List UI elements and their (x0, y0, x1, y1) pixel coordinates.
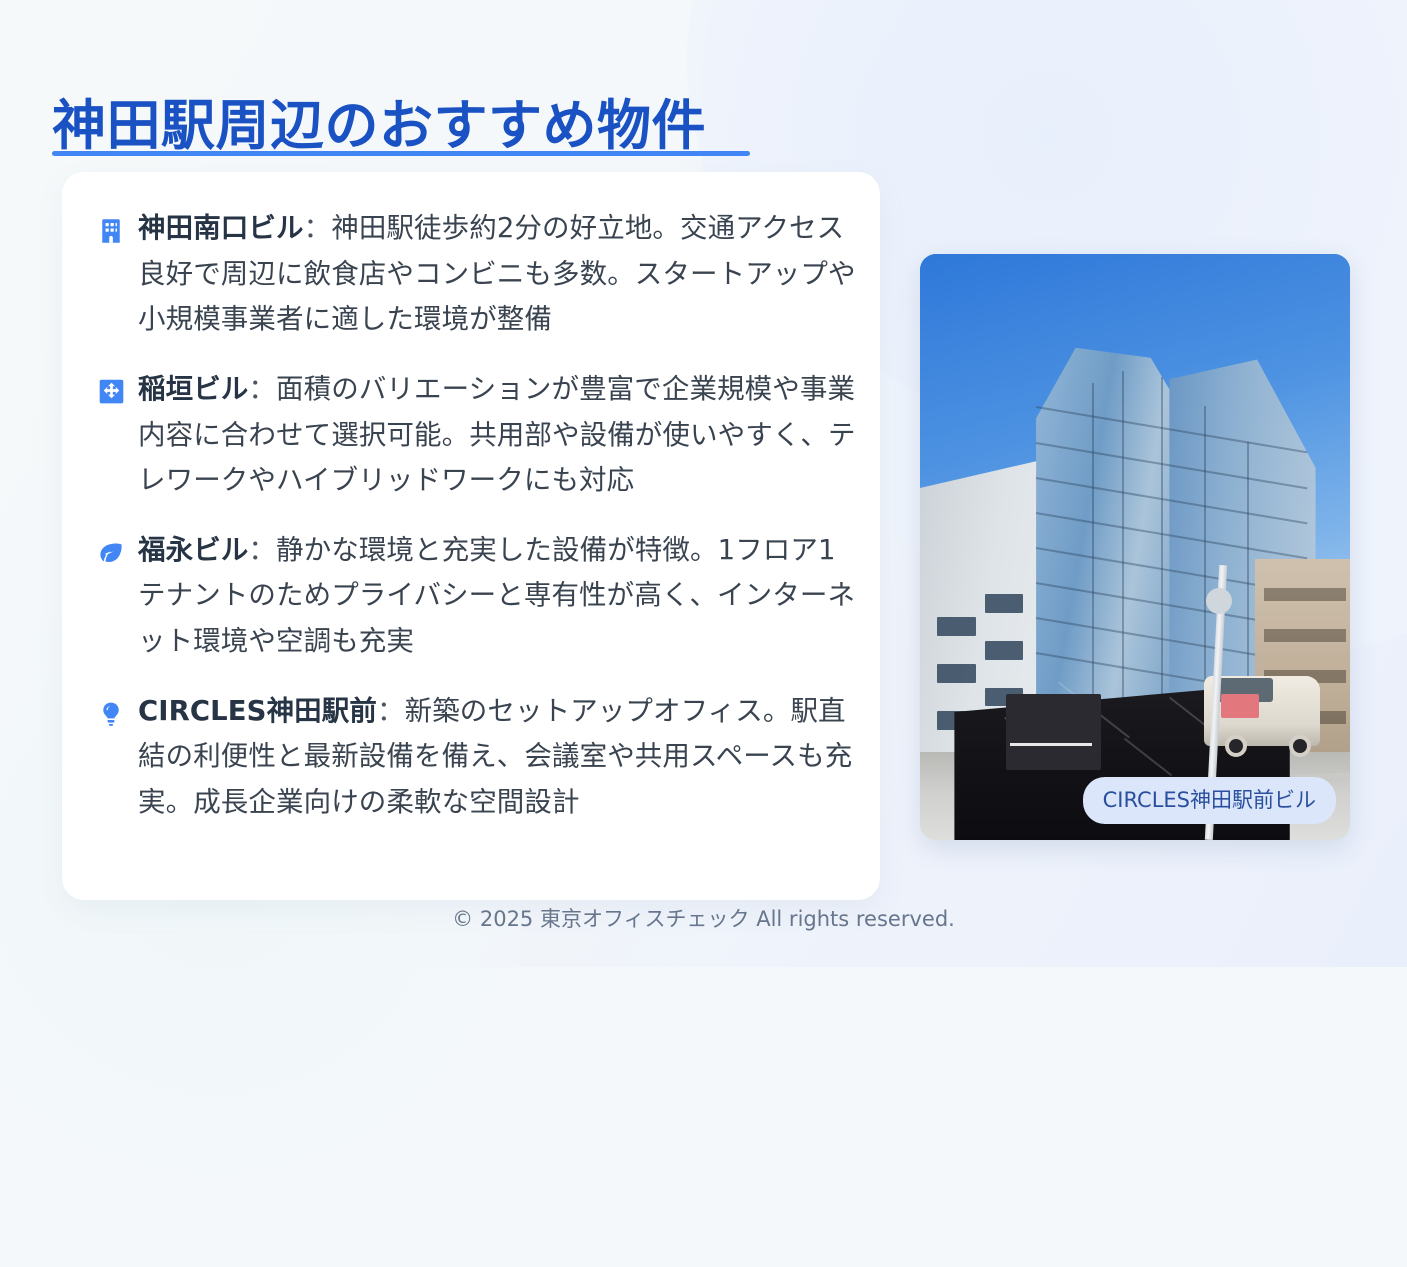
window (937, 664, 976, 683)
entrance-light-bar (1010, 743, 1092, 746)
property-photo[interactable]: CIRCLES神田駅前ビル (920, 254, 1350, 840)
footer-copyright: © 2025 東京オフィスチェック All rights reserved. (0, 903, 1407, 933)
building-icon (94, 214, 128, 248)
balcony-rail (1264, 629, 1346, 642)
list-item-text: CIRCLES神田駅前：新築のセットアップオフィス。駅直結の利便性と最新設備を備… (138, 689, 858, 826)
property-separator: ： (304, 212, 332, 244)
leaf-icon (94, 536, 128, 570)
list-item[interactable]: 稲垣ビル：面積のバリエーションが豊富で企業規模や事業内容に合わせて選択可能。共用… (94, 367, 858, 504)
lightbulb-icon (94, 697, 128, 731)
facade-mullion (1204, 406, 1206, 711)
property-name: CIRCLES神田駅前 (138, 695, 377, 727)
list-item-text: 稲垣ビル：面積のバリエーションが豊富で企業規模や事業内容に合わせて選択可能。共用… (138, 367, 858, 504)
list-item[interactable]: CIRCLES神田駅前：新築のセットアップオフィス。駅直結の利便性と最新設備を備… (94, 689, 858, 826)
van-wheel (1225, 735, 1247, 757)
property-name: 福永ビル (138, 534, 248, 566)
window (937, 617, 976, 636)
balcony-rail (1264, 588, 1346, 601)
list-item[interactable]: 神田南口ビル：神田駅徒歩約2分の好立地。交通アクセス良好で周辺に飲食店やコンビニ… (94, 206, 858, 343)
property-name: 稲垣ビル (138, 373, 248, 405)
list-item-text: 福永ビル：静かな環境と充実した設備が特徴。1フロア1テナントのためプライバシーと… (138, 528, 858, 665)
slide-root: 神田駅周辺のおすすめ物件 (0, 0, 1407, 967)
expand-arrows-icon (94, 375, 128, 409)
pole-sign-red (1221, 694, 1259, 718)
photo-caption-badge: CIRCLES神田駅前ビル (1083, 777, 1336, 824)
facade-mullion (1092, 383, 1094, 699)
property-separator: ： (248, 373, 276, 405)
list-item-text: 神田南口ビル：神田駅徒歩約2分の好立地。交通アクセス良好で周辺に飲食店やコンビニ… (138, 206, 858, 343)
property-list: 神田南口ビル：神田駅徒歩約2分の好立地。交通アクセス良好で周辺に飲食店やコンビニ… (94, 206, 858, 826)
window (985, 594, 1024, 613)
facade-mullion (1122, 371, 1124, 699)
entrance-doorway (1006, 694, 1101, 770)
property-separator: ： (248, 534, 276, 566)
property-photo-image (920, 254, 1350, 840)
pole-sign-round (1206, 588, 1232, 614)
property-name: 神田南口ビル (138, 212, 304, 244)
window (985, 641, 1024, 660)
property-separator: ： (377, 695, 405, 727)
property-list-card: 神田南口ビル：神田駅徒歩約2分の好立地。交通アクセス良好で周辺に飲食店やコンビニ… (62, 172, 880, 900)
facade-mullion (1161, 377, 1163, 705)
list-item[interactable]: 福永ビル：静かな環境と充実した設備が特徴。1フロア1テナントのためプライバシーと… (94, 528, 858, 665)
van-wheel (1289, 735, 1311, 757)
facade-mullion (1247, 442, 1249, 712)
title-underline-rule (52, 151, 750, 156)
